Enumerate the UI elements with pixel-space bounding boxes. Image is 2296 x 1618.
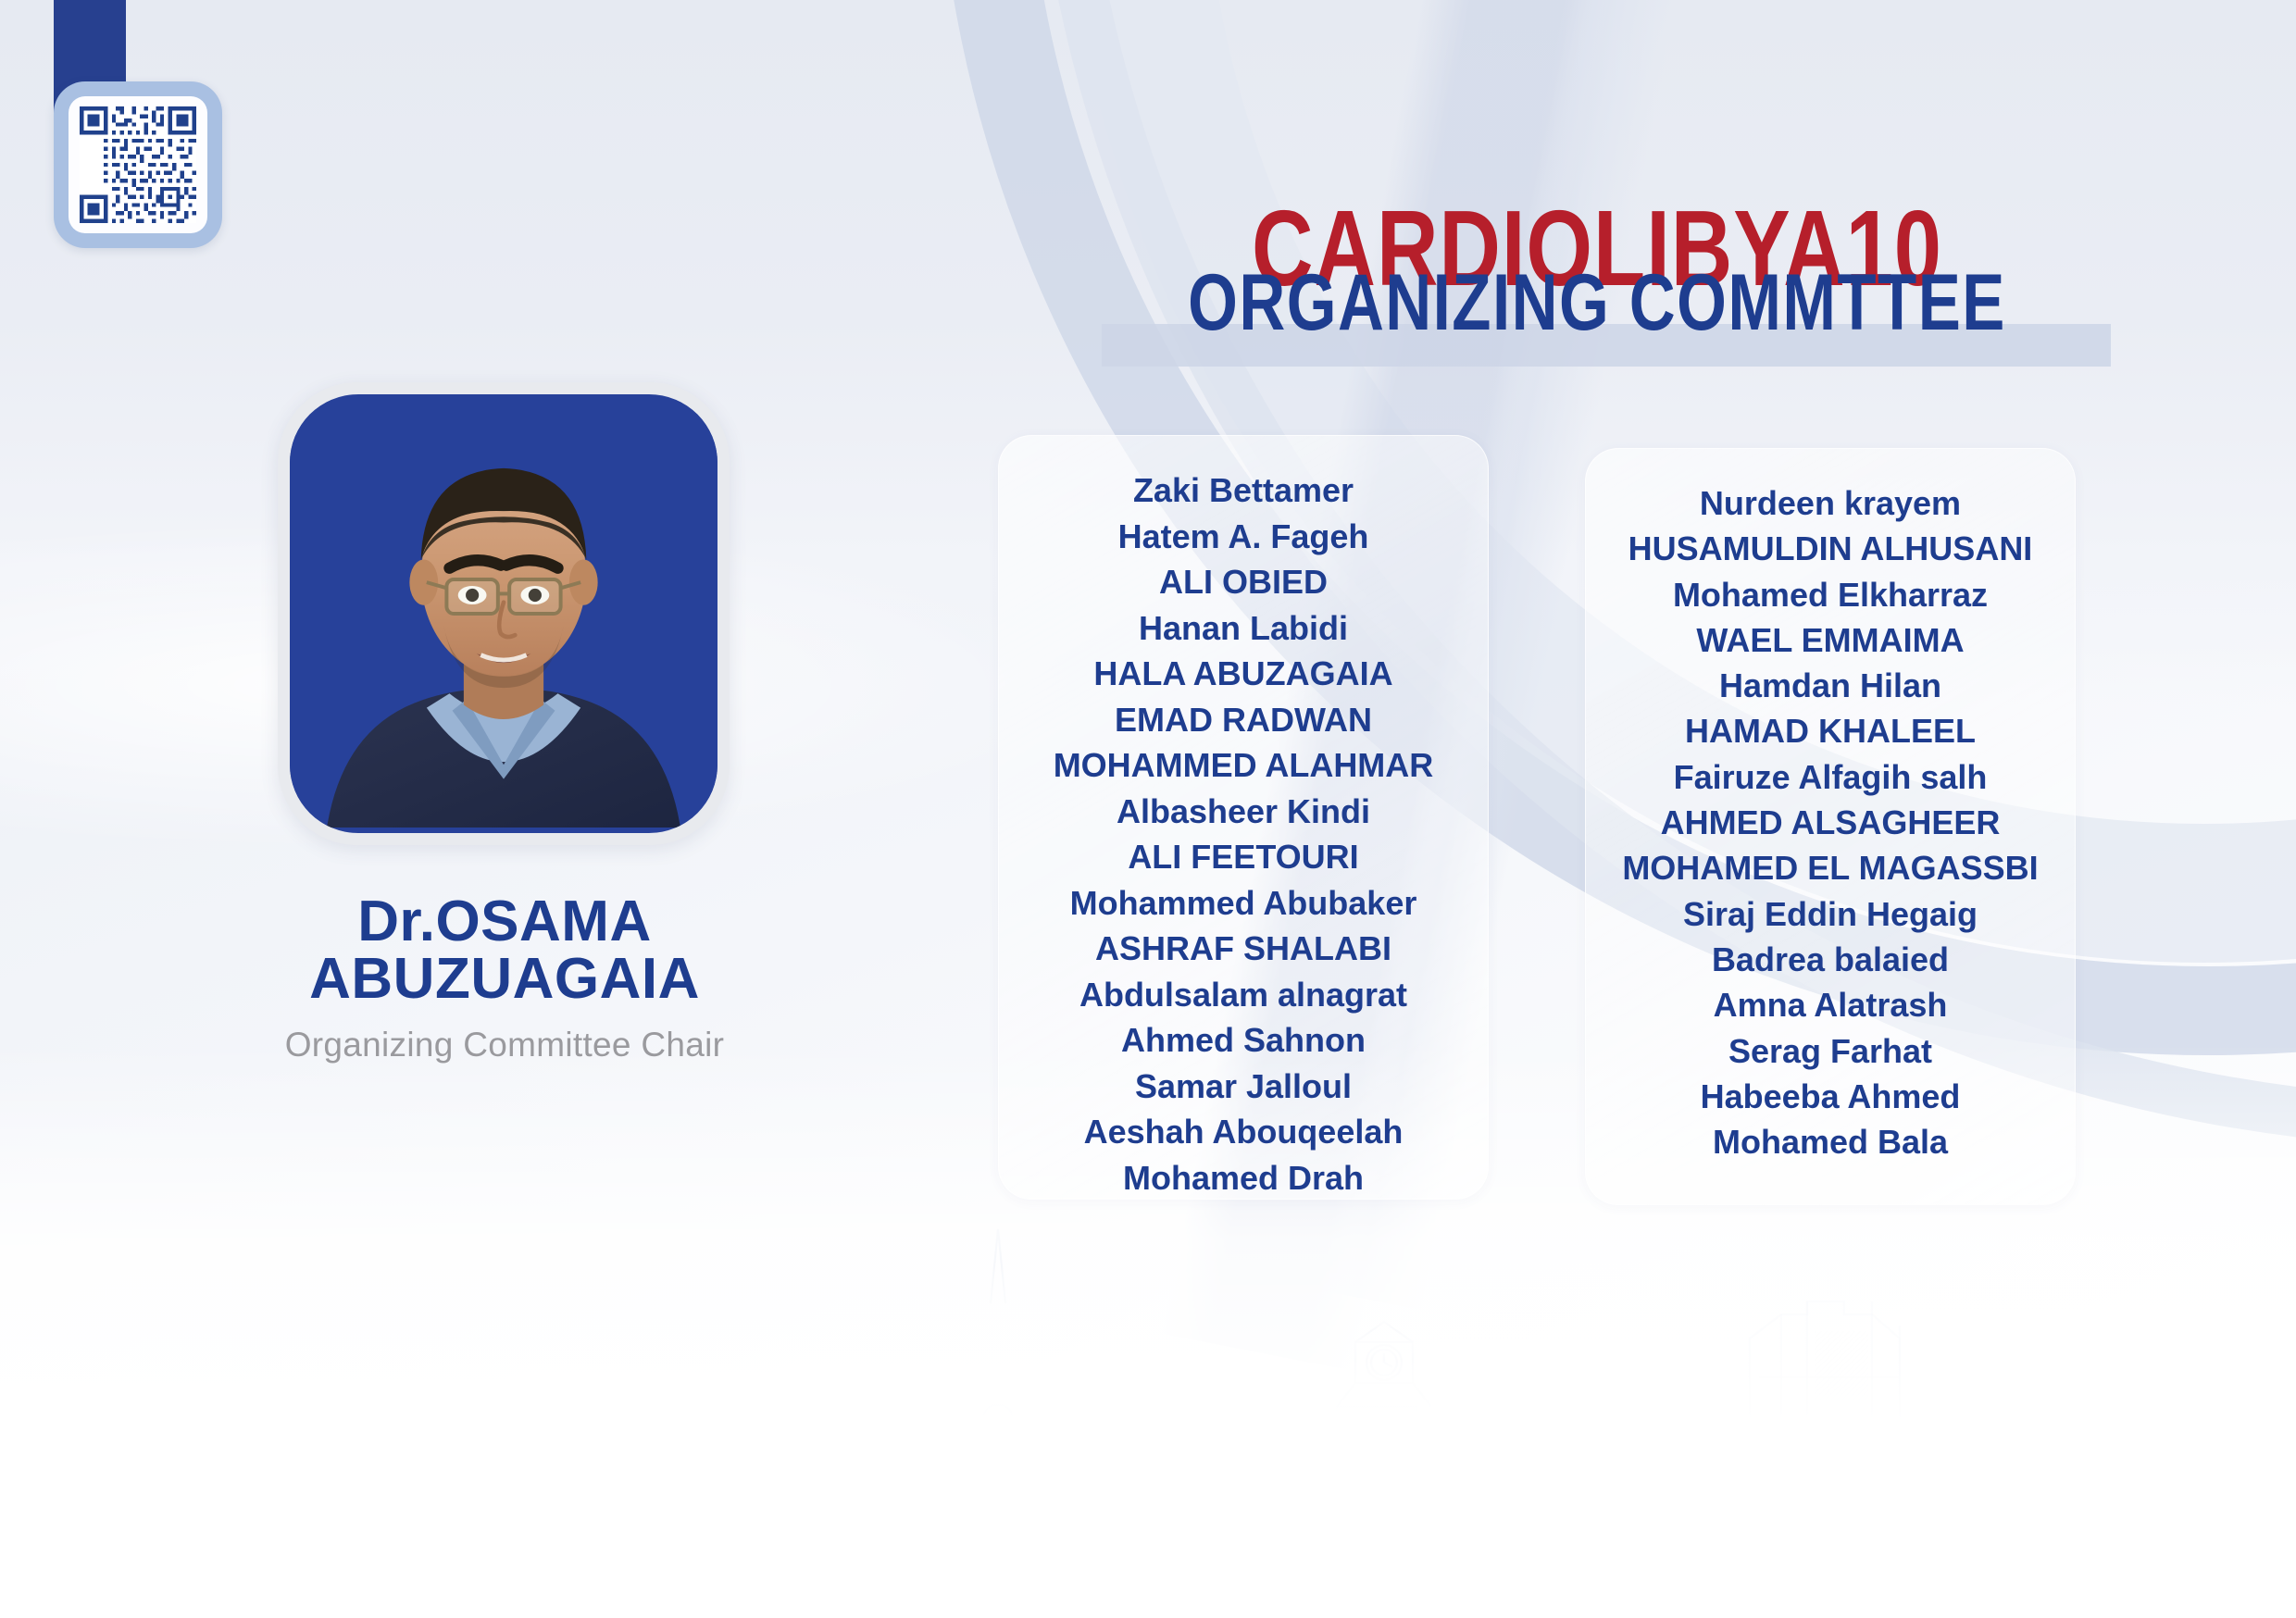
qr-badge[interactable]: [54, 0, 239, 248]
list-item: AHMED ALSAGHEER: [1593, 800, 2067, 845]
badge-inner: [69, 96, 207, 233]
qr-code-icon[interactable]: [80, 106, 196, 223]
list-item: MOHAMED EL MAGASSBI: [1593, 845, 2067, 890]
chair-role: Organizing Committee Chair: [157, 1026, 852, 1064]
title-subtitle: ORGANIZING COMMTTEE: [1108, 262, 2086, 346]
avatar: [290, 394, 717, 833]
list-item: Zaki Bettamer: [1006, 467, 1480, 514]
list-item: Badrea balaied: [1593, 937, 2067, 982]
chair-name-line2: ABUZUAGAIA: [157, 951, 852, 1008]
list-item: Albasheer Kindi: [1006, 789, 1480, 835]
list-item: HAMAD KHALEEL: [1593, 708, 2067, 753]
list-item: ALI OBIED: [1006, 559, 1480, 605]
committee-column-1: Zaki BettamerHatem A. FagehALI OBIEDHana…: [998, 435, 1489, 1200]
list-item: Serag Farhat: [1593, 1028, 2067, 1074]
list-item: Mohammed Abubaker: [1006, 880, 1480, 927]
chair-photo-frame: [278, 382, 730, 845]
list-item: Hanan Labidi: [1006, 605, 1480, 652]
list-item: Nurdeen krayem: [1593, 480, 2067, 526]
list-item: HUSAMULDIN ALHUSANI: [1593, 526, 2067, 571]
list-item: MOHAMMED ALAHMAR: [1006, 742, 1480, 789]
list-item: Mohamed Bala: [1593, 1119, 2067, 1164]
list-item: Fairuze Alfagih salh: [1593, 754, 2067, 800]
list-item: Aeshah Abouqeelah: [1006, 1109, 1480, 1155]
committee-column-2: Nurdeen krayemHUSAMULDIN ALHUSANIMohamed…: [1585, 448, 2076, 1205]
list-item: Hamdan Hilan: [1593, 663, 2067, 708]
list-item: Mohamed Elkharraz: [1593, 572, 2067, 617]
poster-canvas: CARDIOLIBYA10 ORGANIZING COMMTTEE: [0, 0, 2296, 1618]
list-item: Siraj Eddin Hegaig: [1593, 891, 2067, 937]
list-item: Ahmed Sahnon: [1006, 1017, 1480, 1064]
list-item: Habeeba Ahmed: [1593, 1074, 2067, 1119]
list-item: Abdulsalam alnagrat: [1006, 972, 1480, 1018]
list-item: Samar Jalloul: [1006, 1064, 1480, 1110]
badge-holder: [54, 81, 222, 248]
list-item: ALI FEETOURI: [1006, 834, 1480, 880]
list-item: Amna Alatrash: [1593, 982, 2067, 1027]
list-item: HALA ABUZAGAIA: [1006, 651, 1480, 697]
list-item: Hatem A. Fageh: [1006, 514, 1480, 560]
list-item: EMAD RADWAN: [1006, 697, 1480, 743]
chair-name: Dr.OSAMA ABUZUAGAIA: [157, 893, 852, 1008]
list-item: WAEL EMMAIMA: [1593, 617, 2067, 663]
list-item: ASHRAF SHALABI: [1006, 926, 1480, 972]
chair-name-line1: Dr.OSAMA: [157, 893, 852, 951]
list-item: Mohamed Drah: [1006, 1155, 1480, 1201]
